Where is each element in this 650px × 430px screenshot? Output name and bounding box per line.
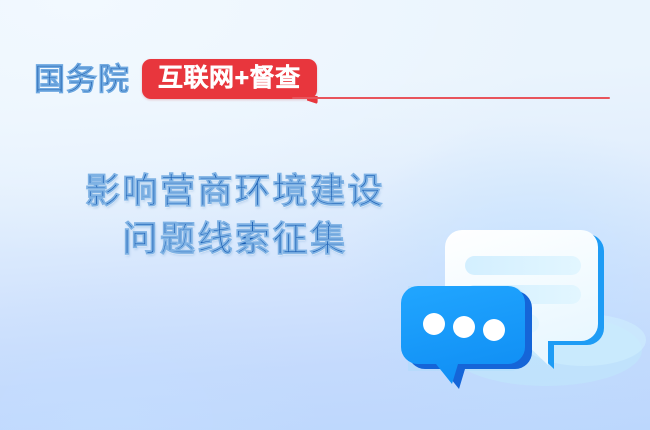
header-divider-rule [292, 97, 610, 99]
typing-dot-1 [423, 313, 445, 335]
header: 国务院 互联网+督查 [34, 56, 317, 102]
gov-label: 国务院 [34, 64, 130, 95]
program-badge-label: 互联网+督查 [158, 64, 301, 92]
typing-dot-3 [483, 319, 505, 341]
banner-root: 国务院 互联网+督查 影响营商环境建设 问题线索征集 [0, 0, 650, 430]
program-badge: 互联网+督查 [142, 59, 317, 99]
big-bubble-bar-1 [465, 256, 581, 275]
background-glow-left [0, 270, 320, 430]
chat-bubbles-illustration [398, 198, 650, 408]
typing-dot-2 [453, 316, 475, 338]
